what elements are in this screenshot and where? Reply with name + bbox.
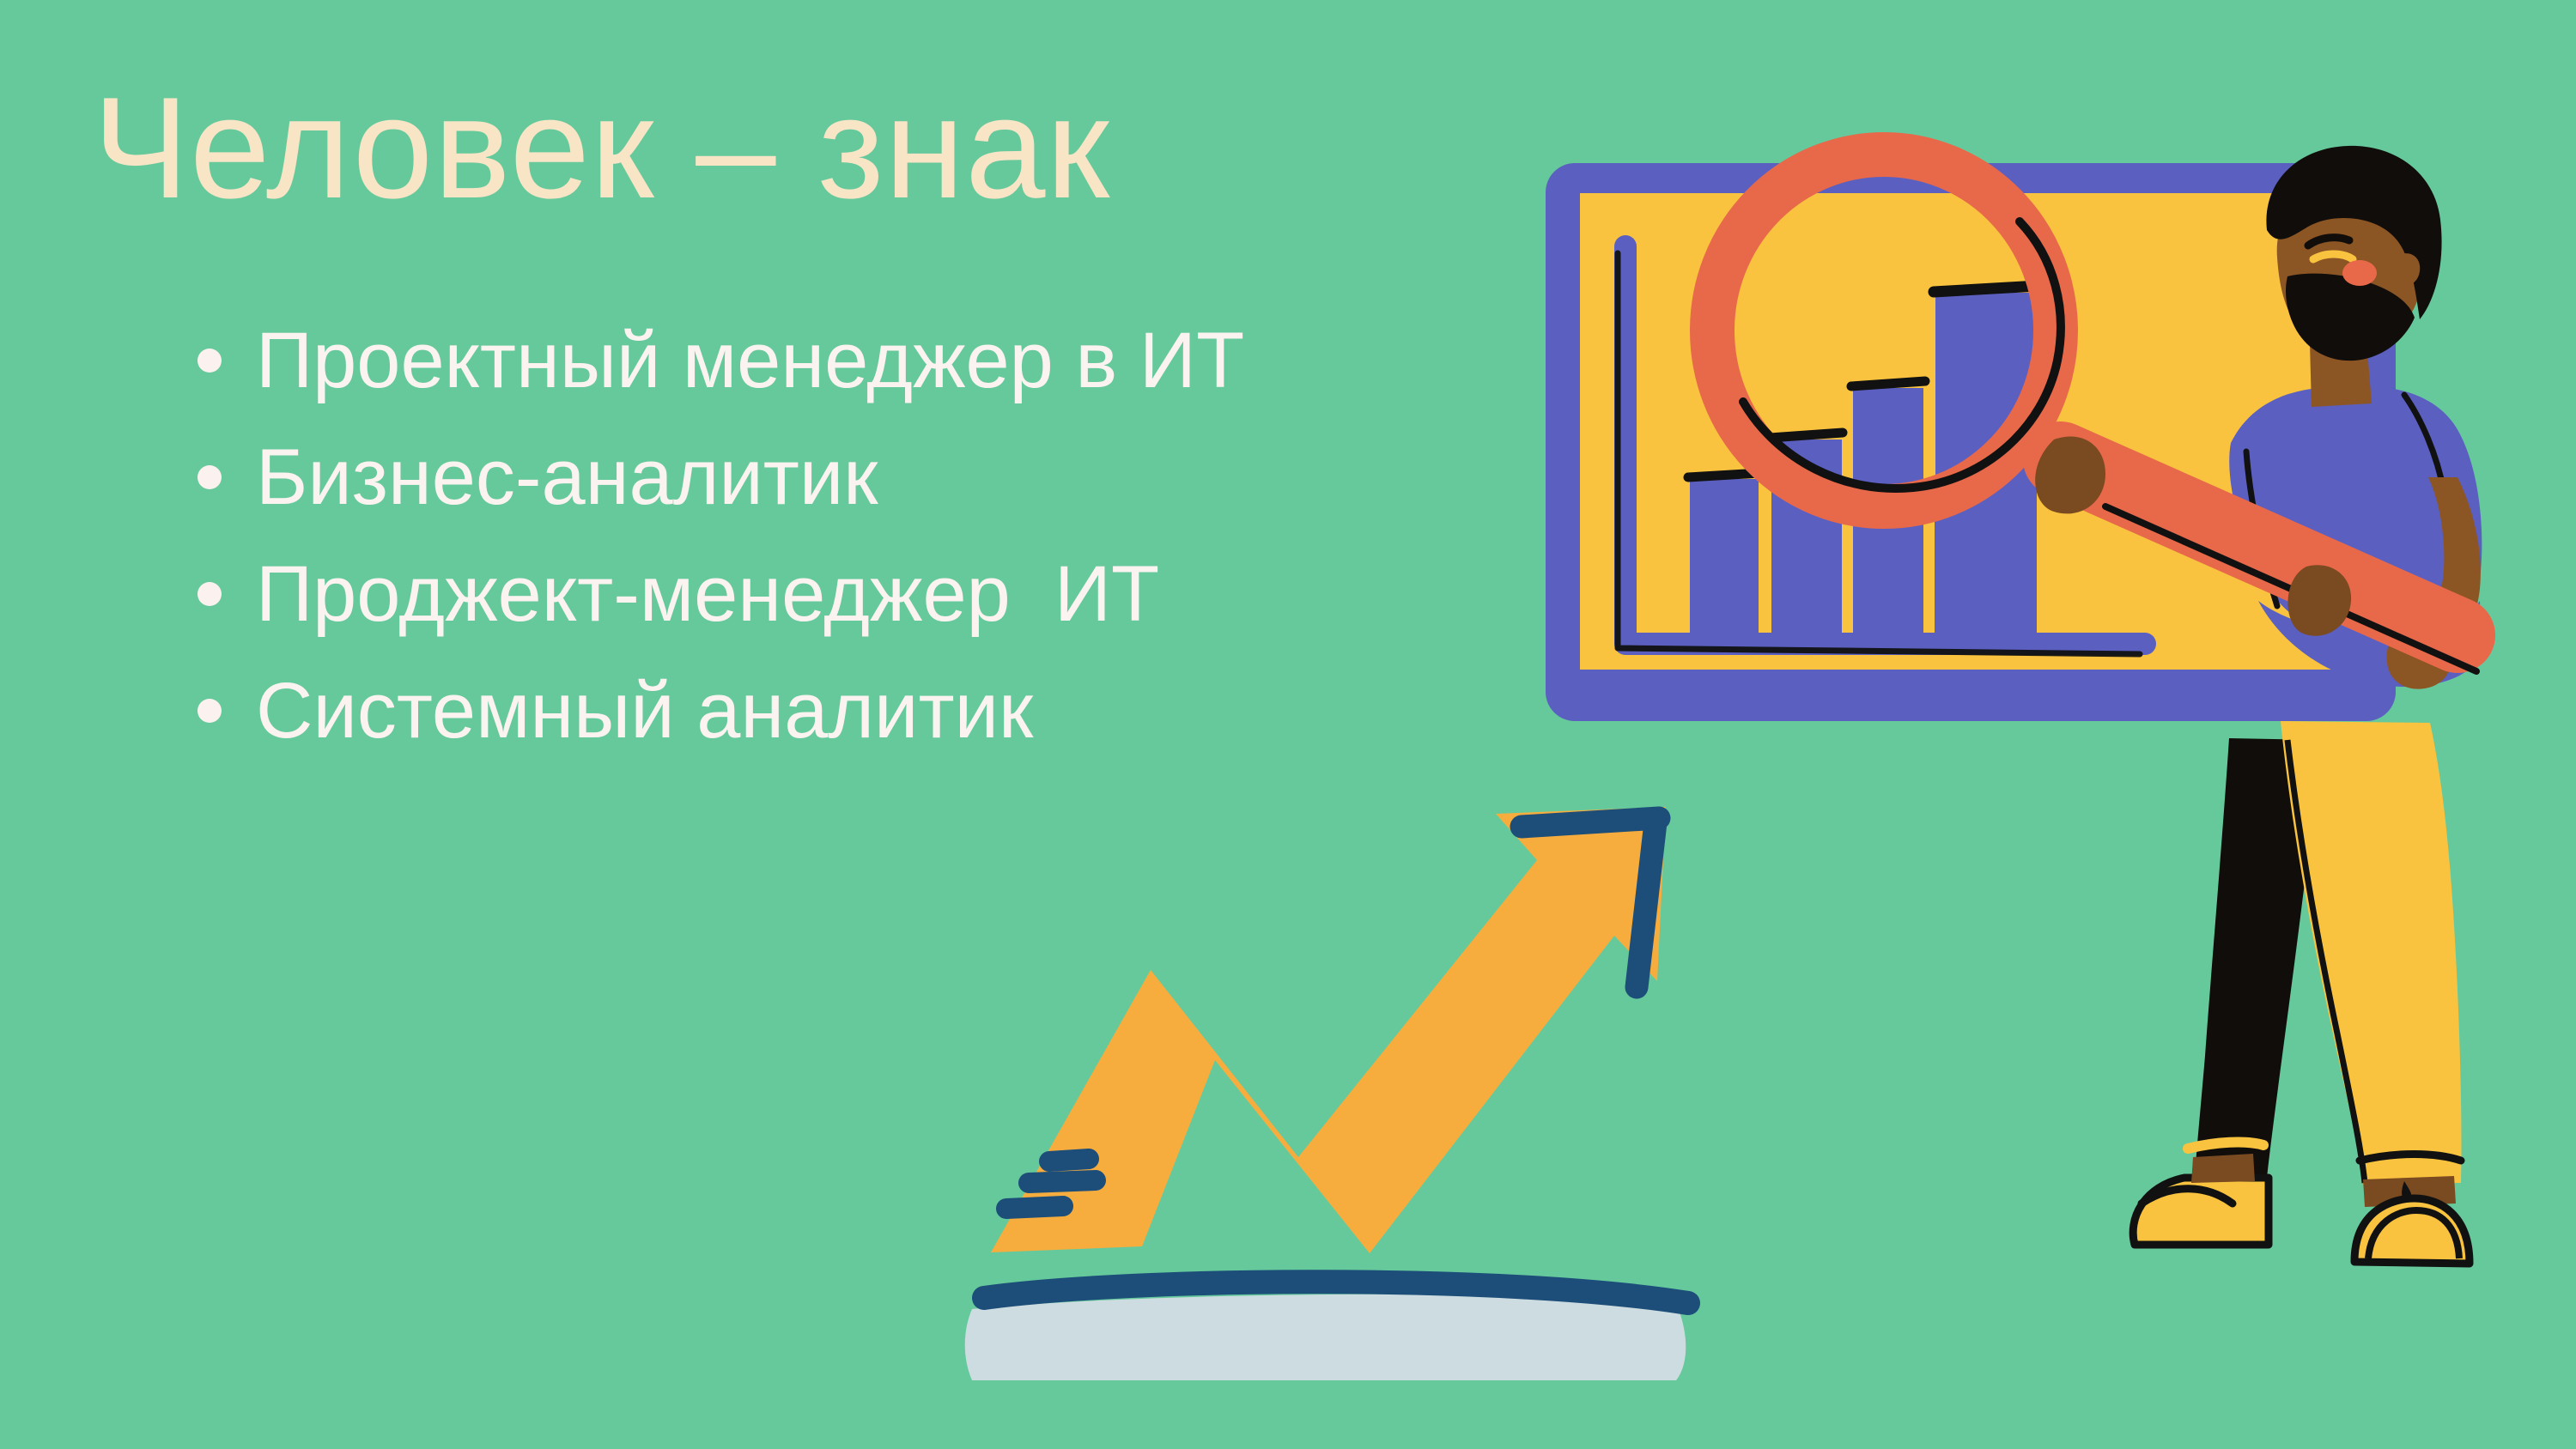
bullet-dot-icon	[197, 349, 222, 373]
person-beard	[2286, 274, 2415, 361]
slide-canvas: Человек – знак Проектный менеджер в ИТ Б…	[0, 0, 2576, 1449]
list-item-label: Системный аналитик	[256, 670, 1033, 753]
arrow-speed-line-1	[1049, 1159, 1089, 1161]
person-back-shoe	[2133, 1178, 2269, 1245]
person-shirt-shoulder-seam	[2404, 395, 2444, 491]
list-item: Системный аналитик	[191, 652, 1822, 769]
person-back-leg	[2195, 738, 2320, 1178]
page-title: Человек – знак	[93, 76, 1110, 220]
list-item: Проектный менеджер в ИТ	[191, 302, 1822, 419]
person-shirt-hem	[2258, 601, 2482, 687]
person-back-cuff	[2188, 1143, 2263, 1149]
magnifier-handle	[2061, 459, 2458, 635]
person-back-shoe-detail	[2142, 1189, 2233, 1203]
person-front-shoe-detail	[2368, 1210, 2459, 1258]
magnifier-handle-outline	[2105, 506, 2476, 671]
person-eyebrow	[2308, 238, 2349, 246]
arrow-ground	[965, 1294, 1686, 1380]
person-front-shoe-drop	[2402, 1181, 2411, 1201]
list-item-label: Проектный менеджер в ИТ	[256, 319, 1244, 403]
job-roles-list: Проектный менеджер в ИТ Бизнес-аналитик …	[191, 302, 1822, 769]
person-right-arm	[2409, 477, 2481, 659]
chart-bar	[1935, 496, 2005, 644]
list-item-label: Бизнес-аналитик	[256, 436, 878, 519]
arrow-head-accent-top	[1522, 818, 1659, 827]
person-front-cuff	[2360, 1155, 2461, 1161]
person-shirt-fold	[2246, 452, 2277, 606]
person-figure	[2133, 146, 2482, 1264]
person-back-ankle	[2191, 1154, 2255, 1183]
list-item-label: Проджект-менеджер ИТ	[256, 553, 1159, 636]
arrow-speed-line-3	[1006, 1206, 1063, 1209]
person-front-leg-outline	[2287, 740, 2365, 1183]
person-front-shoe	[2354, 1198, 2470, 1264]
bullet-dot-icon	[197, 582, 222, 606]
arrow-head-accent-side	[1637, 822, 1656, 987]
chart-bar-top-stroke	[1933, 489, 2007, 494]
person-hair	[2266, 146, 2441, 319]
chart-bar-highlight	[1935, 293, 2037, 644]
arrow-ground-stroke	[984, 1282, 1688, 1303]
bullet-dot-icon	[197, 465, 222, 489]
person-eye	[2313, 254, 2353, 259]
person-front-leg	[2281, 721, 2462, 1185]
bullet-dot-icon	[197, 699, 222, 723]
chart-bar	[1853, 388, 1923, 644]
person-shirt	[2229, 386, 2482, 655]
person-cheek	[2342, 260, 2377, 286]
person-right-hand	[2387, 628, 2451, 689]
person-ear	[2399, 253, 2420, 285]
arrow-body	[991, 807, 1666, 1253]
list-item: Бизнес-аналитик	[191, 419, 1822, 536]
magnifier-grip-lower	[2287, 565, 2351, 636]
person-front-ankle	[2363, 1176, 2456, 1207]
growth-arrow-illustration	[965, 807, 1688, 1380]
chart-bar-top-stroke	[1851, 381, 1925, 386]
arrow-speed-line-2	[1029, 1180, 1096, 1183]
chart-bar-top-stroke	[1934, 286, 2038, 292]
person-head	[2277, 176, 2426, 352]
person-neck	[2310, 340, 2372, 407]
list-item: Проджект-менеджер ИТ	[191, 536, 1822, 652]
magnifier-grip-upper	[2035, 436, 2105, 513]
magnifier-icon	[1712, 155, 2476, 671]
